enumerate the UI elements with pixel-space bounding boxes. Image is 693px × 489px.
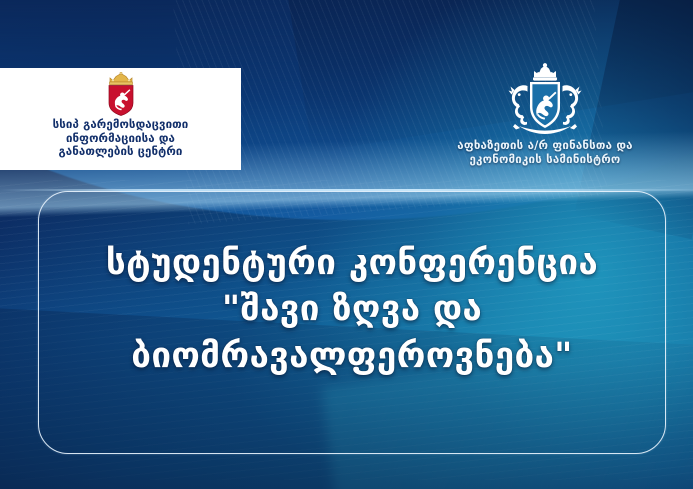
left-organization-logo: სსიპ გარემოსდაცვითი ინფორმაციისა და განა… <box>0 68 241 170</box>
georgian-state-crest-icon <box>104 72 138 116</box>
title-line-2: "შავი ზღვა და <box>222 286 482 332</box>
georgian-coat-of-arms-icon <box>489 62 601 136</box>
left-logo-caption-line-3: განათლების ცენტრი <box>15 145 227 159</box>
left-logo-caption-line-1: სსიპ გარემოსდაცვითი <box>15 118 227 132</box>
title-line-1: სტუდენტური კონფერენცია <box>106 240 598 286</box>
conference-title: სტუდენტური კონფერენცია "შავი ზღვა და ბიო… <box>38 191 666 454</box>
left-logo-caption: სსიპ გარემოსდაცვითი ინფორმაციისა და განა… <box>15 118 227 159</box>
conference-poster: სსიპ გარემოსდაცვითი ინფორმაციისა და განა… <box>0 0 693 489</box>
title-line-3: ბიომრავალფეროვნება" <box>131 333 572 379</box>
right-logo-caption: აფხაზეთის ა/რ ფინანსთა და ეკონომიკის სამ… <box>457 138 632 166</box>
right-ministry-logo: აფხაზეთის ა/რ ფინანსთა და ეკონომიკის სამ… <box>400 62 690 174</box>
right-logo-caption-line-1: აფხაზეთის ა/რ ფინანსთა და <box>457 138 632 152</box>
left-logo-caption-line-2: ინფორმაციისა და <box>15 132 227 146</box>
right-logo-caption-line-2: ეკონომიკის სამინისტრო <box>457 152 632 166</box>
